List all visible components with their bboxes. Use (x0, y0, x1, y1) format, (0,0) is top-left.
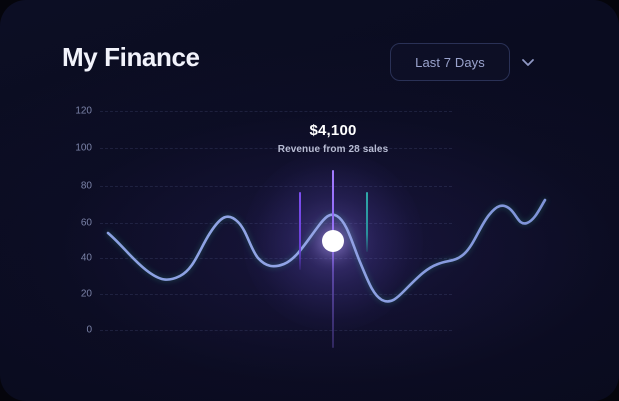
finance-card: My Finance Last 7 Days 120 10 (0, 0, 619, 401)
y-axis-tick: 40 (81, 253, 92, 264)
revenue-chart: 120 100 80 60 40 20 0 (0, 0, 619, 401)
tooltip-value: $4,100 (233, 122, 433, 139)
y-axis-tick: 20 (81, 289, 92, 300)
cursor-dot[interactable] (322, 230, 344, 252)
gridline (100, 111, 452, 113)
marker-right (366, 192, 368, 252)
y-axis-tick: 0 (86, 325, 92, 336)
gridline (100, 294, 452, 296)
y-axis-tick: 60 (81, 218, 92, 229)
chart-tooltip: $4,100 Revenue from 28 sales (233, 122, 433, 155)
y-axis-tick: 100 (75, 143, 92, 154)
y-axis-tick: 120 (75, 106, 92, 117)
gridline (100, 223, 452, 225)
y-axis-tick: 80 (81, 181, 92, 192)
y-axis: 120 100 80 60 40 20 0 (0, 0, 100, 401)
gridline (100, 258, 452, 260)
gridline (100, 186, 452, 188)
app-root: My Finance Last 7 Days 120 10 (0, 0, 619, 401)
gridline (100, 148, 452, 150)
marker-center (332, 170, 334, 348)
marker-left (299, 192, 301, 270)
gridline (100, 330, 452, 332)
